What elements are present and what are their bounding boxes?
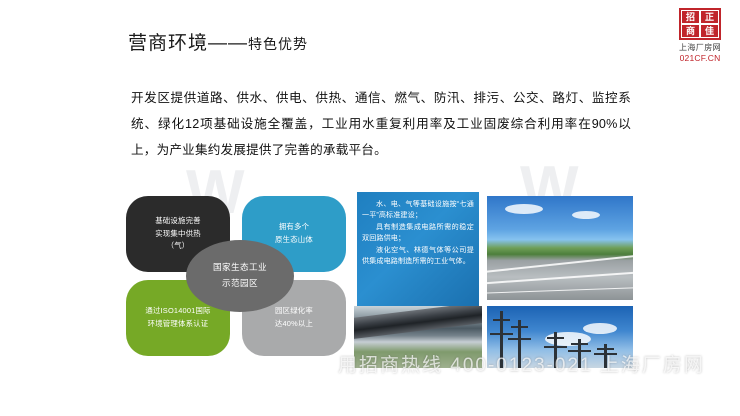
utilities-item-1: 水、电、气等基础设施按“七通一平”高标准建设； [362,199,474,222]
petal-heating-line3: （气） [167,240,190,253]
photo-power-grid [487,306,633,368]
infographic-hub: 国家生态工业 示范园区 [186,240,294,312]
hub-line1: 国家生态工业 [213,260,267,276]
petal-heating-line2: 实现集中供热 [155,228,201,241]
infographic-cluster: 基础设施完善 实现集中供热 （气） 拥有多个 原生态山体 通过ISO14001国… [126,196,354,356]
road-stripe [487,253,633,273]
road-stripe [487,287,633,294]
logo-seal-icon: 招 正 商 佳 [679,8,721,40]
logo-company-name: 上海厂房网 [668,43,732,53]
seal-char-2: 正 [700,10,719,24]
pylon-shape [518,320,521,368]
page-title-main: 营商环境 [128,33,208,54]
cloud-shape [505,204,543,214]
petal-iso-line2: 环境管理体系认证 [148,318,209,331]
utilities-panel: 水、电、气等基础设施按“七通一平”高标准建设； 具有制造集成电路所需的稳定双回路… [357,192,479,310]
page-title-dash: —— [208,33,248,54]
photo-pipeline [354,306,482,368]
page-title-sub: 特色优势 [248,36,308,52]
petal-greenery-line1: 园区绿化率 [275,305,313,318]
pylon-shape [604,344,607,368]
utilities-item-2: 具有制造集成电路所需的稳定双回路供电； [362,222,474,245]
cloud-shape [583,323,617,334]
petal-iso-line1: 通过ISO14001国际 [145,305,210,318]
site-logo: 招 正 商 佳 上海厂房网 021CF.CN [668,8,732,64]
page-title: 营商环境——特色优势 [128,28,308,55]
petal-mountains-line2: 原生态山体 [275,234,313,247]
seal-char-1: 招 [681,10,700,24]
hub-line2: 示范园区 [222,276,258,292]
petal-mountains-line1: 拥有多个 [279,221,309,234]
seal-char-3: 商 [681,24,700,38]
utilities-item-3: 液化空气、林德气体等公司提供集成电路制造所需的工业气体。 [362,245,474,268]
road-stripe [487,271,633,285]
body-paragraph: 开发区提供道路、供水、供电、供热、通信、燃气、防汛、排污、公交、路灯、监控系统、… [131,86,631,163]
petal-greenery-line2: 达40%以上 [275,318,313,331]
photo-highway [487,196,633,300]
cloud-shape [572,211,600,219]
pylon-shape [578,339,581,368]
petal-heating-line1: 基础设施完善 [155,215,201,228]
pylon-shape [554,332,557,368]
logo-url: 021CF.CN [668,53,732,64]
pipeline-tube [354,306,482,339]
seal-char-4: 佳 [700,24,719,38]
slide-canvas: W W 招 正 商 佳 上海厂房网 021CF.CN 营商环境——特色优势 开发… [0,0,740,416]
pylon-shape [500,311,503,368]
